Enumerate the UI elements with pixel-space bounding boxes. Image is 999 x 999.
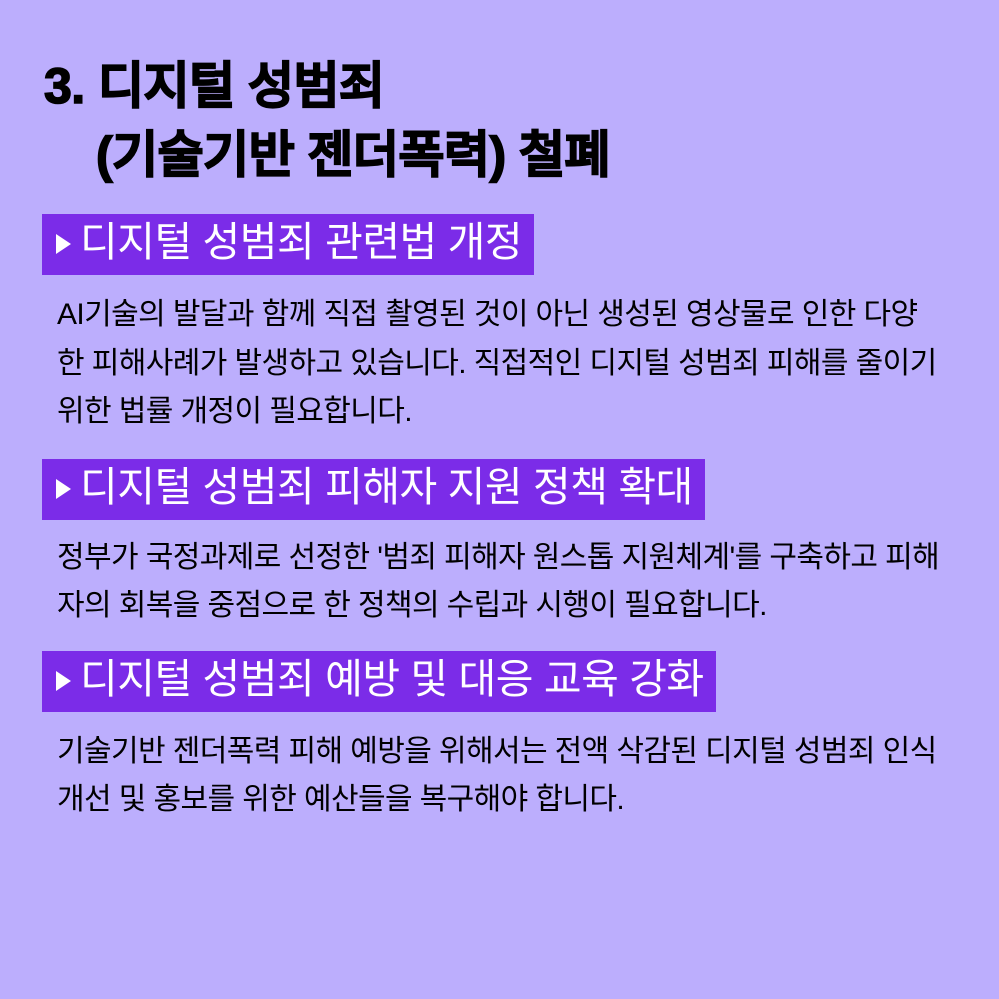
section-heading-3: 디지털 성범죄 예방 및 대응 교육 강화	[42, 651, 716, 712]
section-item: 디지털 성범죄 예방 및 대응 교육 강화 기술기반 젠더폭력 피해 예방을 위…	[0, 651, 999, 825]
page-title: 3. 디지털 성범죄 (기술기반 젠더폭력) 철폐	[0, 0, 999, 190]
section-item: 디지털 성범죄 피해자 지원 정책 확대 정부가 국정과제로 선정한 '범죄 피…	[0, 459, 999, 631]
section-heading-label: 디지털 성범죄 피해자 지원 정책 확대	[80, 465, 693, 511]
page-title-line-2: (기술기반 젠더폭력) 철폐	[0, 121, 999, 190]
section-body-2: 정부가 국정과제로 선정한 '범죄 피해자 원스톱 지원체계'를 구축하고 피해…	[0, 520, 999, 631]
sections-list: 디지털 성범죄 관련법 개정 AI기술의 발달과 함께 직접 촬영된 것이 아닌…	[0, 214, 999, 825]
triangle-right-icon	[56, 479, 71, 499]
section-body-3: 기술기반 젠더폭력 피해 예방을 위해서는 전액 삭감된 디지털 성범죄 인식 …	[0, 712, 999, 825]
section-heading-label: 디지털 성범죄 예방 및 대응 교육 강화	[80, 657, 704, 703]
section-heading-label: 디지털 성범죄 관련법 개정	[80, 220, 522, 266]
section-heading-row: 디지털 성범죄 예방 및 대응 교육 강화	[0, 651, 999, 712]
section-heading-row: 디지털 성범죄 관련법 개정	[0, 214, 999, 275]
triangle-right-icon	[56, 234, 71, 254]
section-heading-2: 디지털 성범죄 피해자 지원 정책 확대	[42, 459, 705, 520]
section-item: 디지털 성범죄 관련법 개정 AI기술의 발달과 함께 직접 촬영된 것이 아닌…	[0, 214, 999, 437]
card-news-slide: 3. 디지털 성범죄 (기술기반 젠더폭력) 철폐 디지털 성범죄 관련법 개정…	[0, 0, 999, 999]
page-title-line-1: 3. 디지털 성범죄	[0, 52, 999, 121]
section-heading-1: 디지털 성범죄 관련법 개정	[42, 214, 534, 275]
section-body-1: AI기술의 발달과 함께 직접 촬영된 것이 아닌 생성된 영상물로 인한 다양…	[0, 275, 999, 437]
triangle-right-icon	[56, 671, 71, 691]
section-heading-row: 디지털 성범죄 피해자 지원 정책 확대	[0, 459, 999, 520]
